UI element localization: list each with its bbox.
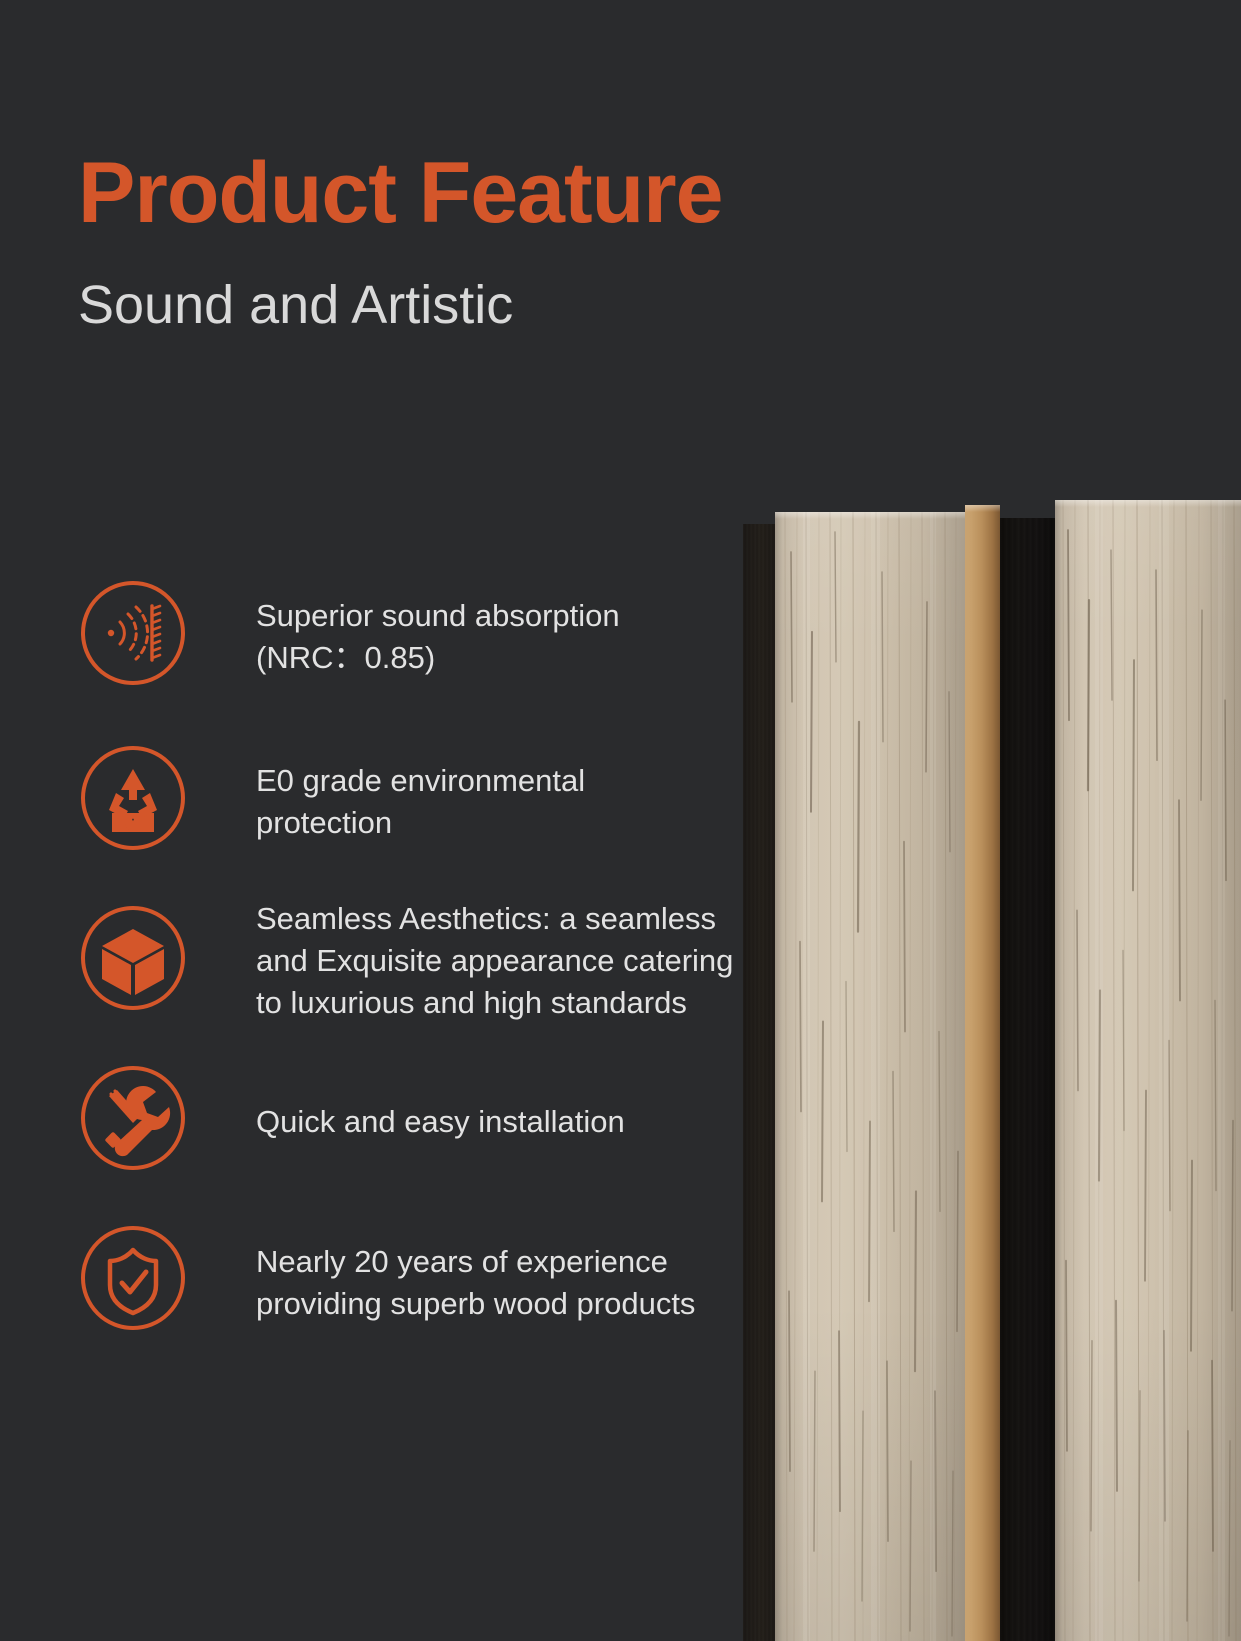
feature-item: Nearly 20 years of experience providing … [78, 1223, 738, 1333]
feature-item: Superior sound absorption (NRC：0.85) [78, 578, 738, 688]
page-title: Product Feature [78, 150, 978, 236]
sound-absorption-icon [78, 578, 188, 688]
product-feature-page: Product Feature Sound and Artistic [0, 0, 1241, 1641]
wood-grain-texture-right [1055, 500, 1241, 1641]
box-icon [78, 903, 188, 1013]
feature-label: Quick and easy installation [256, 1063, 738, 1143]
wood-slat-left-side-edge [965, 505, 1000, 1641]
page-header: Product Feature Sound and Artistic [78, 150, 978, 332]
shield-check-icon [78, 1223, 188, 1333]
feature-item: Seamless Aesthetics: a seamless and Exqu… [78, 903, 738, 1024]
feature-label: E0 grade environmental protection [256, 743, 738, 844]
wood-grain-texture-left [775, 512, 965, 1641]
feature-item: E0 grade environmental protection [78, 743, 738, 853]
tools-icon [78, 1063, 188, 1173]
feature-item: Quick and easy installation [78, 1063, 738, 1173]
page-subtitle: Sound and Artistic [78, 236, 978, 332]
feature-label: Superior sound absorption (NRC：0.85) [256, 578, 738, 679]
feature-label: Nearly 20 years of experience providing … [256, 1223, 738, 1325]
felt-backing-gap [1000, 518, 1055, 1641]
recycle-icon [78, 743, 188, 853]
slat-edge-top-highlight [965, 505, 1000, 512]
wood-slat-left [775, 512, 965, 1641]
feature-label: Seamless Aesthetics: a seamless and Exqu… [256, 898, 738, 1024]
wood-slat-right [1055, 500, 1241, 1641]
